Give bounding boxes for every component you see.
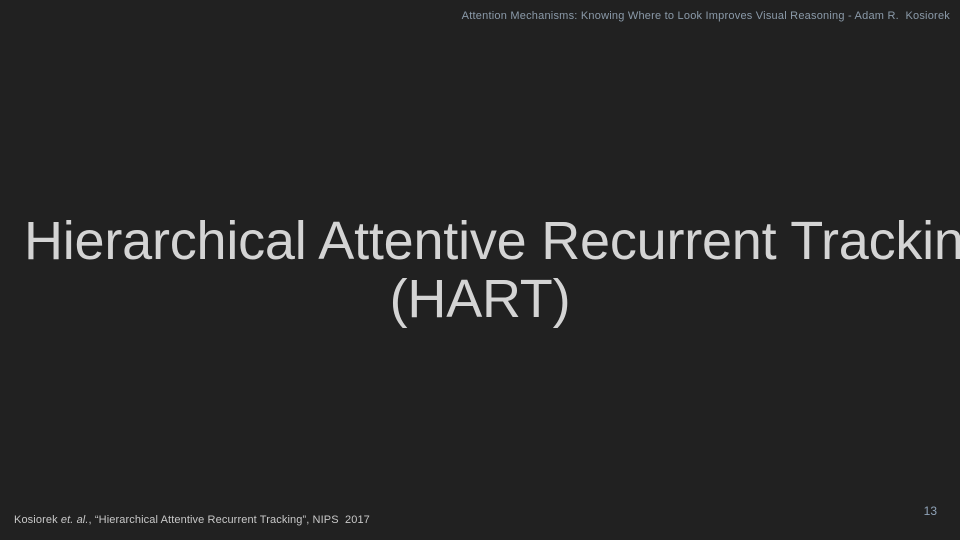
slide-title-line-2: (HART) <box>24 270 936 328</box>
slide-canvas: Attention Mechanisms: Knowing Where to L… <box>0 0 960 540</box>
citation-reference: , “Hierarchical Attentive Recurrent Trac… <box>89 514 370 526</box>
footer-citation: Kosiorek et. al., “Hierarchical Attentiv… <box>14 513 370 527</box>
slide-title-line-1: Hierarchical Attentive Recurrent Trackin… <box>24 212 936 270</box>
citation-author: Kosiorek <box>14 514 61 526</box>
running-header: Attention Mechanisms: Knowing Where to L… <box>300 9 950 23</box>
citation-et-al: et. al. <box>61 514 89 526</box>
slide-number: 13 <box>924 504 937 518</box>
slide-title: Hierarchical Attentive Recurrent Trackin… <box>0 212 960 328</box>
